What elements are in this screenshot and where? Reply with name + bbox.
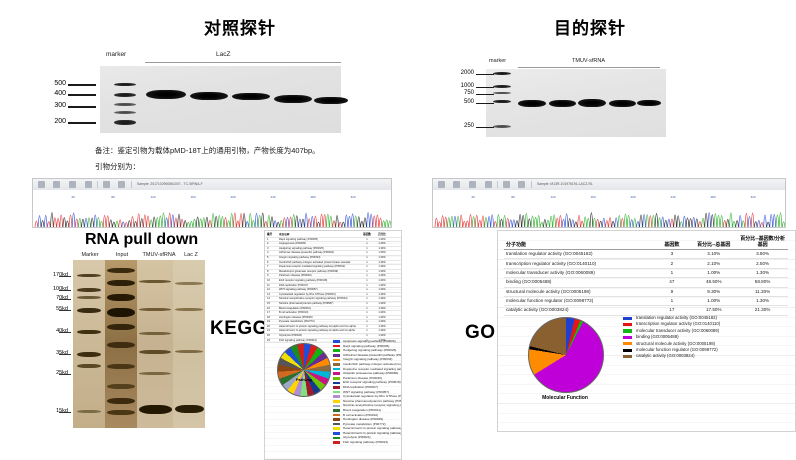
kegg-cell-genes: 1: [361, 274, 373, 277]
go-cell-pct-analyzed: 21.30%: [737, 306, 788, 315]
table-row: binding (GO:0005488)4748.50%58.80%: [504, 278, 788, 287]
legend-label: catalytic activity (GO:0003824): [636, 353, 695, 358]
kegg-cell-pct: 1.30%: [375, 274, 389, 277]
legend-swatch: [623, 329, 632, 332]
sds-gel-image: [73, 260, 205, 428]
legend-swatch: [333, 391, 340, 394]
legend-label: Heterotrimeric G-protein signaling pathw…: [343, 431, 402, 435]
sds-mw-label: 70kd: [44, 295, 68, 301]
kegg-cell-name: WNT signaling pathway (P00057): [279, 288, 357, 291]
legend-label: Heterotrimeric G-protein signaling pathw…: [343, 426, 402, 430]
legend-swatch: [333, 359, 340, 362]
legend-label: Integrin signaling pathway (P00034): [343, 357, 392, 361]
kegg-cell-name: Metabotropic glutamate receptor pathway …: [279, 270, 357, 273]
legend-label: Glycolysis (P00024): [343, 435, 371, 439]
kegg-cell-no: 16: [267, 307, 277, 310]
legend-swatch: [333, 427, 340, 430]
sds-marker-band: [77, 330, 101, 334]
kegg-cell-pct: 1.30%: [375, 320, 389, 323]
trace-svg: [33, 199, 391, 227]
sds-mw-label: 25kd: [44, 370, 68, 376]
ladder-band: [114, 83, 136, 86]
kegg-cell-name: Heterotrimeric G-protein signaling pathw…: [279, 325, 357, 328]
go-pie-legend: translation regulator activity (GO:00451…: [623, 315, 793, 360]
legend-label: structural molecule activity (GO:0005198…: [636, 341, 715, 346]
rna-pulldown-title: RNA pull down: [85, 231, 198, 249]
kegg-cell-name: Insulin/IGF pathway-mitogen activated pr…: [279, 261, 357, 264]
table-row: translation regulator activity (GO:00451…: [504, 250, 788, 259]
ladder-band: [493, 85, 511, 88]
kegg-cell-name: Integrin signaling pathway (P00034): [279, 256, 357, 259]
kegg-cell-genes: 1: [361, 320, 373, 323]
kegg-cell-name: EGF receptor signaling pathway (P00018): [279, 279, 357, 282]
kegg-cell-name: B cell activation (P00010): [279, 311, 357, 314]
mw-tick: [476, 74, 494, 75]
go-pie-chart: [528, 317, 604, 393]
kegg-cell-genes: 1: [361, 311, 373, 314]
kegg-pie-caption: Pathway: [281, 377, 327, 382]
legend-label: FGF signaling pathway (P00021): [343, 440, 388, 444]
kegg-cell-pct: 1.30%: [375, 316, 389, 319]
kegg-cell-pct: 1.30%: [375, 279, 389, 282]
chromatogram-viewer-left[interactable]: Sample: 2017102900561007 - TC-SfRNA-F 40…: [32, 178, 392, 228]
kegg-cell-no: 7: [267, 265, 277, 268]
go-sheet[interactable]: 分子功能 基因数 百分比--总基因 百分比--基因数/分析基因 translat…: [497, 230, 796, 432]
ladder-band: [114, 111, 136, 114]
mw-label: 750: [450, 90, 474, 96]
kegg-cell-genes: 1: [361, 293, 373, 296]
kegg-col-pct: 百分比: [375, 233, 389, 236]
go-cell-pct-analyzed: 1.30%: [737, 296, 788, 305]
prev-icon[interactable]: [503, 181, 510, 188]
legend-label: binding (GO:0005488): [636, 334, 679, 339]
go-cell-genes: 1: [653, 296, 690, 305]
legend-swatch: [623, 355, 632, 358]
go-cell-pct-analyzed: 3.80%: [737, 250, 788, 259]
ladder-band: [493, 100, 511, 103]
kegg-cell-pct: 1.30%: [375, 270, 389, 273]
sds-input-band: [107, 342, 135, 348]
gel-sample-label: TMUV-sfRNA: [572, 58, 605, 64]
kegg-cell-genes: 1: [361, 242, 373, 245]
legend-label: Dopamine receptor mediated signaling pat…: [343, 367, 402, 371]
toolbar-separator: [131, 181, 132, 188]
go-cell-pct-analyzed: 11.30%: [737, 287, 788, 296]
mw-tick: [68, 84, 96, 86]
mw-label: 2000: [450, 70, 474, 76]
go-cell-term: transcription regulator activity (GO:014…: [504, 259, 653, 268]
control-probe-title: 对照探针: [170, 14, 310, 39]
table-row: transcription regulator activity (GO:014…: [504, 259, 788, 268]
legend-label: Rap1 signaling pathway (P00005): [343, 344, 389, 348]
table-row: molecular function regulator (GO:0098772…: [504, 296, 788, 305]
legend-swatch: [333, 340, 340, 343]
legend-label: Nicotine pharmacodynamics pathway (P0658…: [343, 399, 402, 403]
legend-swatch: [333, 437, 340, 440]
kegg-cell-pct: 1.30%: [375, 325, 389, 328]
legend-item: catalytic activity (GO:0003824): [623, 353, 793, 359]
next-icon[interactable]: [518, 181, 525, 188]
kegg-cell-pct: 1.30%: [375, 265, 389, 268]
kegg-pie-legend: Apoptosis signaling pathway (P00006)Rap1…: [333, 339, 399, 445]
sample-band: [314, 97, 348, 104]
legend-label: DNA replication (P00017): [343, 385, 378, 389]
kegg-cell-name: Hedgehog signaling pathway (P00025): [279, 247, 357, 250]
legend-swatch: [333, 395, 340, 398]
legend-swatch: [333, 377, 340, 380]
ladder-band: [493, 92, 511, 94]
kegg-cell-name: DNA replication (P00017): [279, 284, 357, 287]
legend-item: FGF signaling pathway (P00021): [333, 440, 399, 445]
sds-input-band: [107, 324, 135, 330]
ladder-band: [114, 103, 136, 106]
go-table-body: translation regulator activity (GO:00451…: [504, 250, 788, 316]
sds-tmuv-band: [139, 308, 171, 311]
mw-label: 500: [450, 99, 474, 105]
sample-band: [609, 100, 636, 107]
legend-swatch: [333, 345, 340, 348]
sds-input-band: [107, 410, 135, 415]
kegg-cell-no: 10: [267, 279, 277, 282]
go-cell-pct-total: 1.00%: [690, 296, 737, 305]
kegg-cell-genes: 1: [361, 325, 373, 328]
kegg-cell-no: 2: [267, 242, 277, 245]
legend-swatch: [333, 418, 340, 421]
kegg-cell-no: 18: [267, 316, 277, 319]
kegg-cell-no: 11: [267, 284, 277, 287]
ladder-band: [114, 120, 136, 125]
kegg-cell-genes: 1: [361, 284, 373, 287]
legend-label: Huntington disease (P00029): [343, 417, 383, 421]
target-probe-title: 目的探针: [490, 14, 690, 39]
go-cell-genes: 2: [653, 259, 690, 268]
kegg-cell-no: 3: [267, 247, 277, 250]
legend-label: Ubiquitin proteasome pathway (P00060): [343, 371, 398, 375]
print-icon[interactable]: [85, 181, 92, 188]
next-icon[interactable]: [118, 181, 125, 188]
kegg-cell-name: Huntington disease (P00029): [279, 316, 357, 319]
legend-swatch: [333, 372, 340, 375]
mw-label: 300: [44, 102, 66, 109]
sds-tmuv-band: [139, 405, 172, 414]
mw-tick: [68, 94, 96, 96]
go-col-genes: 基因数: [653, 235, 690, 250]
mw-label: 1000: [450, 83, 474, 89]
kegg-cell-no: 19: [267, 320, 277, 323]
go-cell-genes: 47: [653, 278, 690, 287]
kegg-cell-pct: 1.30%: [375, 311, 389, 314]
sds-mw-tick: [59, 290, 71, 291]
kegg-col-name: 项目名称: [279, 233, 357, 236]
mw-label: 400: [44, 90, 66, 97]
kegg-cell-pct: 1.30%: [375, 238, 389, 241]
legend-swatch: [333, 363, 340, 366]
mw-tick: [476, 127, 494, 128]
sds-lane-label: Marker: [76, 252, 104, 258]
kegg-cell-genes: 1: [361, 261, 373, 264]
lane-lacz-bg: [173, 260, 205, 428]
sds-tmuv-band: [139, 280, 171, 283]
gel-sample-label: LacZ: [216, 51, 230, 58]
kegg-cell-name: Glycolysis (P00024): [279, 334, 357, 337]
sds-marker-band: [77, 352, 101, 357]
legend-label: molecular function regulator (GO:0098772…: [636, 347, 718, 352]
legend-swatch: [333, 400, 340, 403]
kegg-cell-no: 22: [267, 334, 277, 337]
kegg-cell-name: Rap1 signaling pathway (P00005): [279, 238, 357, 241]
go-cell-term: molecular transducer activity (GO:006008…: [504, 268, 653, 277]
sds-mw-label: 40kd: [44, 328, 68, 334]
sample-band: [578, 99, 606, 107]
sds-marker-band: [77, 410, 101, 413]
prev-icon[interactable]: [103, 181, 110, 188]
kegg-cell-no: 12: [267, 288, 277, 291]
export-icon[interactable]: [69, 181, 76, 188]
legend-swatch: [333, 432, 340, 435]
kegg-cell-pct: 1.30%: [375, 284, 389, 287]
kegg-cell-pct: 1.30%: [375, 288, 389, 291]
legend-swatch: [623, 342, 632, 345]
sample-band: [274, 95, 312, 103]
sample-band: [190, 92, 228, 100]
sds-mw-tick: [59, 354, 71, 355]
toolbar-separator: [497, 181, 498, 188]
kegg-cell-name: Dopamine receptor mediated signaling pat…: [279, 265, 357, 268]
kegg-table: 编号 项目名称 基因数 百分比 1Rap1 signaling pathway …: [265, 233, 401, 343]
kegg-cell-genes: 1: [361, 297, 373, 300]
kegg-cell-no: 21: [267, 329, 277, 332]
kegg-cell-genes: 1: [361, 251, 373, 254]
sds-mw-label: 15kd: [44, 408, 68, 414]
kegg-cell-pct: 1.30%: [375, 329, 389, 332]
legend-swatch: [333, 409, 340, 412]
chromatogram-viewer-right[interactable]: Sample: M13R-101976191-LACZ-R1 408012016…: [432, 178, 786, 228]
sample-band: [232, 93, 270, 100]
kegg-cell-genes: 1: [361, 256, 373, 259]
kegg-cell-genes: 1: [361, 329, 373, 332]
sds-marker-band: [77, 308, 101, 313]
kegg-cell-name: Heterotrimeric G-protein signaling pathw…: [279, 329, 357, 332]
sds-mw-tick: [59, 374, 71, 375]
gel-caption-line2: 引物分别为：: [95, 160, 140, 173]
table-row: catalytic activity (GO:0003824)1717.50%2…: [504, 306, 788, 315]
kegg-cell-genes: 1: [361, 316, 373, 319]
go-cell-pct-total: 48.50%: [690, 278, 737, 287]
go-cell-term: structural molecule activity (GO:0005198…: [504, 287, 653, 296]
go-pie-caption: Molecular Function: [520, 395, 610, 401]
trace-svg: [433, 199, 785, 227]
legend-swatch: [333, 386, 340, 389]
go-cell-pct-total: 2.10%: [690, 259, 737, 268]
sample-band: [518, 100, 546, 107]
open-icon[interactable]: [438, 181, 445, 188]
legend-label: Parkinson disease (P00049): [343, 376, 382, 380]
kegg-cell-genes: 1: [361, 270, 373, 273]
go-cell-term: molecular function regulator (GO:0098772…: [504, 296, 653, 305]
gel-caption-line1: 备注：鉴定引物为载体pMD-18T上的通用引物，产物长度为407bp。: [95, 144, 320, 157]
kegg-cell-name: Angiogenesis (P00005): [279, 242, 357, 245]
kegg-cell-genes: 1: [361, 288, 373, 291]
legend-swatch: [623, 336, 632, 339]
kegg-cell-no: 9: [267, 274, 277, 277]
sds-tmuv-band: [139, 332, 171, 335]
kegg-cell-name: Blood coagulation (P00011): [279, 307, 357, 310]
kegg-sheet[interactable]: 编号 项目名称 基因数 百分比 1Rap1 signaling pathway …: [264, 230, 402, 460]
mw-tick: [476, 103, 494, 104]
gel-marker-label: marker: [106, 51, 126, 58]
legend-swatch: [333, 349, 340, 352]
sds-input-band: [107, 294, 135, 301]
sample-band: [549, 100, 576, 107]
kegg-cell-genes: 1: [361, 307, 373, 310]
sds-mw-tick: [59, 332, 71, 333]
legend-label: Cytoskeletal regulation by Rho GTPase (P…: [343, 394, 402, 398]
legend-swatch: [333, 423, 340, 426]
kegg-cell-name: Parkinson disease (P00049): [279, 274, 357, 277]
legend-label: Blood coagulation (P00011): [343, 408, 381, 412]
mw-label: 500: [44, 80, 66, 87]
go-cell-term: translation regulator activity (GO:00451…: [504, 250, 653, 259]
sds-mw-label: 35kd: [44, 350, 68, 356]
go-col-function: 分子功能: [504, 235, 653, 250]
sds-input-band: [107, 268, 135, 273]
print-icon[interactable]: [485, 181, 492, 188]
kegg-cell-pct: 1.30%: [375, 293, 389, 296]
sds-input-band: [107, 308, 135, 317]
kegg-cell-genes: 1: [361, 247, 373, 250]
legend-swatch: [333, 368, 340, 371]
go-cell-genes: 17: [653, 306, 690, 315]
ladder-band: [114, 93, 136, 97]
kegg-cell-no: 13: [267, 293, 277, 296]
kegg-cell-no: 6: [267, 261, 277, 264]
sds-lane-label: Input: [110, 252, 134, 258]
sds-mw-label: 170kd: [44, 272, 68, 278]
sds-input-band: [107, 384, 135, 389]
table-row: molecular transducer activity (GO:006008…: [504, 268, 788, 277]
legend-swatch: [333, 354, 340, 357]
kegg-cell-pct: 1.30%: [375, 247, 389, 250]
kegg-cell-no: 15: [267, 302, 277, 305]
go-cell-pct-total: 3.10%: [690, 250, 737, 259]
sds-lacz-band: [175, 282, 203, 285]
kegg-cell-genes: 1: [361, 238, 373, 241]
go-cell-pct-total: 1.00%: [690, 268, 737, 277]
sds-lacz-band: [175, 405, 204, 413]
legend-swatch: [623, 323, 632, 326]
kegg-cell-pct: 1.30%: [375, 297, 389, 300]
legend-label: Nicotinic acetylcholine receptor signali…: [343, 403, 402, 407]
chromatogram-trace-left: [33, 199, 391, 227]
sds-marker-band: [77, 274, 101, 277]
sds-marker-band: [77, 288, 101, 292]
save-icon[interactable]: [453, 181, 460, 188]
sds-lacz-band: [175, 308, 203, 311]
kegg-cell-pct: 1.30%: [375, 256, 389, 259]
go-cell-genes: 1: [653, 268, 690, 277]
toolbar-separator: [97, 181, 98, 188]
sds-mw-label: 100kd: [44, 286, 68, 292]
open-icon[interactable]: [38, 181, 45, 188]
gel-sample-underline: [145, 62, 341, 63]
go-cell-genes: 3: [653, 250, 690, 259]
sds-input-band: [107, 398, 135, 404]
kegg-cell-name: Nicotinic acetylcholine receptor signali…: [279, 297, 357, 300]
sample-band: [146, 90, 186, 99]
kegg-cell-name: Nicotine pharmacodynamics pathway (P0658…: [279, 302, 357, 305]
kegg-cell-pct: 1.30%: [375, 261, 389, 264]
mw-label: 200: [44, 118, 66, 125]
mw-tick: [68, 122, 96, 124]
go-col-pct-total: 百分比--总基因: [690, 235, 737, 250]
sds-lane-label: TMUV-sfRNA: [139, 252, 179, 258]
legend-label: transcription regulator activity (GO:014…: [636, 321, 720, 326]
legend-label: WNT signaling pathway (P00057): [343, 390, 389, 394]
kegg-cell-no: 14: [267, 297, 277, 300]
kegg-cell-no: 1: [267, 238, 277, 241]
mw-tick: [476, 87, 494, 88]
go-table: 分子功能 基因数 百分比--总基因 百分比--基因数/分析基因 translat…: [504, 235, 788, 316]
kegg-cell-pct: 1.30%: [375, 302, 389, 305]
chromatogram-sample-title: Sample: 2017102900561007 - TC-SfRNA-F: [137, 182, 203, 186]
legend-swatch: [623, 317, 632, 320]
save-icon[interactable]: [53, 181, 60, 188]
kegg-cell-genes: 1: [361, 302, 373, 305]
legend-label: Alzheimer disease-presenilin pathway (P0…: [343, 353, 402, 357]
sds-lane-label: Lac Z: [180, 252, 202, 258]
chromatogram-trace-right: [433, 199, 785, 227]
legend-label: Hedgehog signaling pathway (P00025): [343, 348, 396, 352]
gel-sample-underline: [518, 67, 660, 68]
sds-lacz-band: [175, 350, 203, 353]
gel-marker-label: marker: [489, 58, 506, 64]
go-col-pct-analyzed: 百分比--基因数/分析基因: [737, 235, 788, 250]
sds-mw-tick: [59, 412, 71, 413]
kegg-cell-genes: 1: [361, 334, 373, 337]
legend-label: EGF receptor signaling pathway (P00018): [343, 380, 401, 384]
export-icon[interactable]: [469, 181, 476, 188]
legend-swatch: [333, 382, 340, 385]
ladder-band: [493, 125, 511, 128]
kegg-cell-no: 5: [267, 256, 277, 259]
kegg-pie-chart: [277, 343, 331, 397]
kegg-cell-genes: 1: [361, 265, 373, 268]
sds-marker-band: [77, 296, 101, 299]
go-cell-pct-analyzed: 58.80%: [737, 278, 788, 287]
kegg-table-body: 1Rap1 signaling pathway (P00005)11.30%2A…: [265, 238, 401, 344]
ladder-band: [493, 72, 511, 75]
sds-input-band: [107, 364, 135, 369]
go-table-header-row: 分子功能 基因数 百分比--总基因 百分比--基因数/分析基因: [504, 235, 788, 250]
kegg-label: KEGG: [210, 318, 268, 340]
legend-label: molecular transducer activity (GO:006008…: [636, 328, 719, 333]
kegg-cell-no: 20: [267, 325, 277, 328]
chromatogram-sample-title: Sample: M13R-101976191-LACZ-R1: [537, 182, 593, 186]
lane-tmuv-bg: [137, 260, 173, 428]
sds-tmuv-band: [139, 350, 171, 354]
table-row: structural molecule activity (GO:0005198…: [504, 287, 788, 296]
kegg-cell-name: Cytoskeletal regulation by Rho GTPase (P…: [279, 293, 357, 296]
go-cell-pct-analyzed: 2.50%: [737, 259, 788, 268]
sds-mw-label: 55kd: [44, 306, 68, 312]
sds-tmuv-band: [139, 372, 171, 375]
go-cell-pct-total: 17.50%: [690, 306, 737, 315]
sds-marker-band: [77, 364, 101, 368]
toolbar-separator: [531, 181, 532, 188]
legend-swatch: [623, 349, 632, 352]
legend-label: B cell activation (P00010): [343, 413, 378, 417]
go-cell-term: catalytic activity (GO:0003824): [504, 306, 653, 315]
